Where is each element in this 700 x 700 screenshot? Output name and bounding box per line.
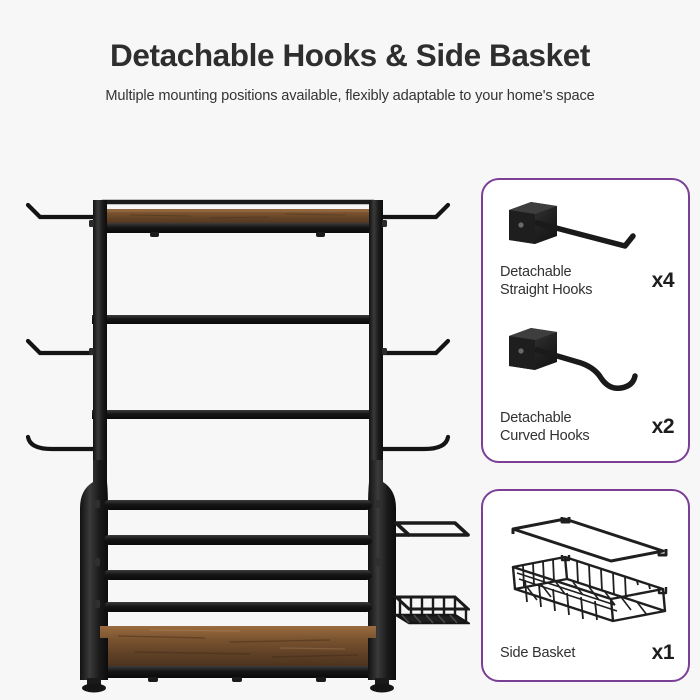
curved-hook-label-line2: Curved Hooks	[500, 427, 646, 445]
curved-hook-figure	[483, 322, 688, 398]
curved-hook-bracket	[509, 328, 557, 370]
page-subtitle: Multiple mounting positions available, f…	[0, 73, 700, 104]
rack-bottom-shelf	[94, 626, 382, 682]
curved-hook-icon	[376, 437, 448, 449]
curved-hook-arm	[537, 350, 635, 388]
product-illustration	[0, 160, 470, 700]
rack-top-shelf	[94, 202, 382, 237]
side-basket-qty: x1	[652, 641, 674, 665]
straight-hook-bracket	[509, 202, 557, 244]
rack-right-hooks	[376, 205, 448, 449]
panel-detachable-hooks: Detachable Straight Hooks x4	[481, 178, 690, 463]
curved-hook-label: Detachable Curved Hooks	[500, 409, 646, 445]
curved-hook-qty: x2	[652, 415, 674, 439]
rack-upper-posts	[89, 200, 387, 490]
straight-hook-label-line1: Detachable	[500, 263, 646, 281]
curved-hook-icon	[28, 437, 100, 449]
straight-hook-label-line2: Straight Hooks	[500, 281, 646, 299]
rack-upper-rails	[92, 315, 382, 419]
straight-hook-figure	[483, 192, 688, 260]
panel-side-basket: Side Basket x1	[481, 489, 690, 682]
side-basket-label: Side Basket	[500, 644, 646, 662]
straight-hook-qty: x4	[652, 269, 674, 293]
straight-hook-row: Detachable Straight Hooks x4	[483, 258, 688, 304]
side-basket-row: Side Basket x1	[483, 633, 688, 673]
side-basket-frame	[513, 517, 666, 561]
rack-side-basket	[396, 523, 468, 623]
curved-hook-label-line1: Detachable	[500, 409, 646, 427]
curved-hook-row: Detachable Curved Hooks x2	[483, 404, 688, 450]
header: Detachable Hooks & Side Basket Multiple …	[0, 0, 700, 104]
straight-hook-icon	[376, 205, 448, 217]
side-basket-figure	[483, 501, 688, 629]
infographic-canvas: Detachable Hooks & Side Basket Multiple …	[0, 0, 700, 700]
straight-hook-label: Detachable Straight Hooks	[500, 263, 646, 299]
straight-hook-icon	[28, 205, 100, 217]
page-title: Detachable Hooks & Side Basket	[0, 0, 700, 73]
rack-left-hooks	[28, 205, 100, 449]
rack-shoe-rails	[104, 500, 372, 612]
